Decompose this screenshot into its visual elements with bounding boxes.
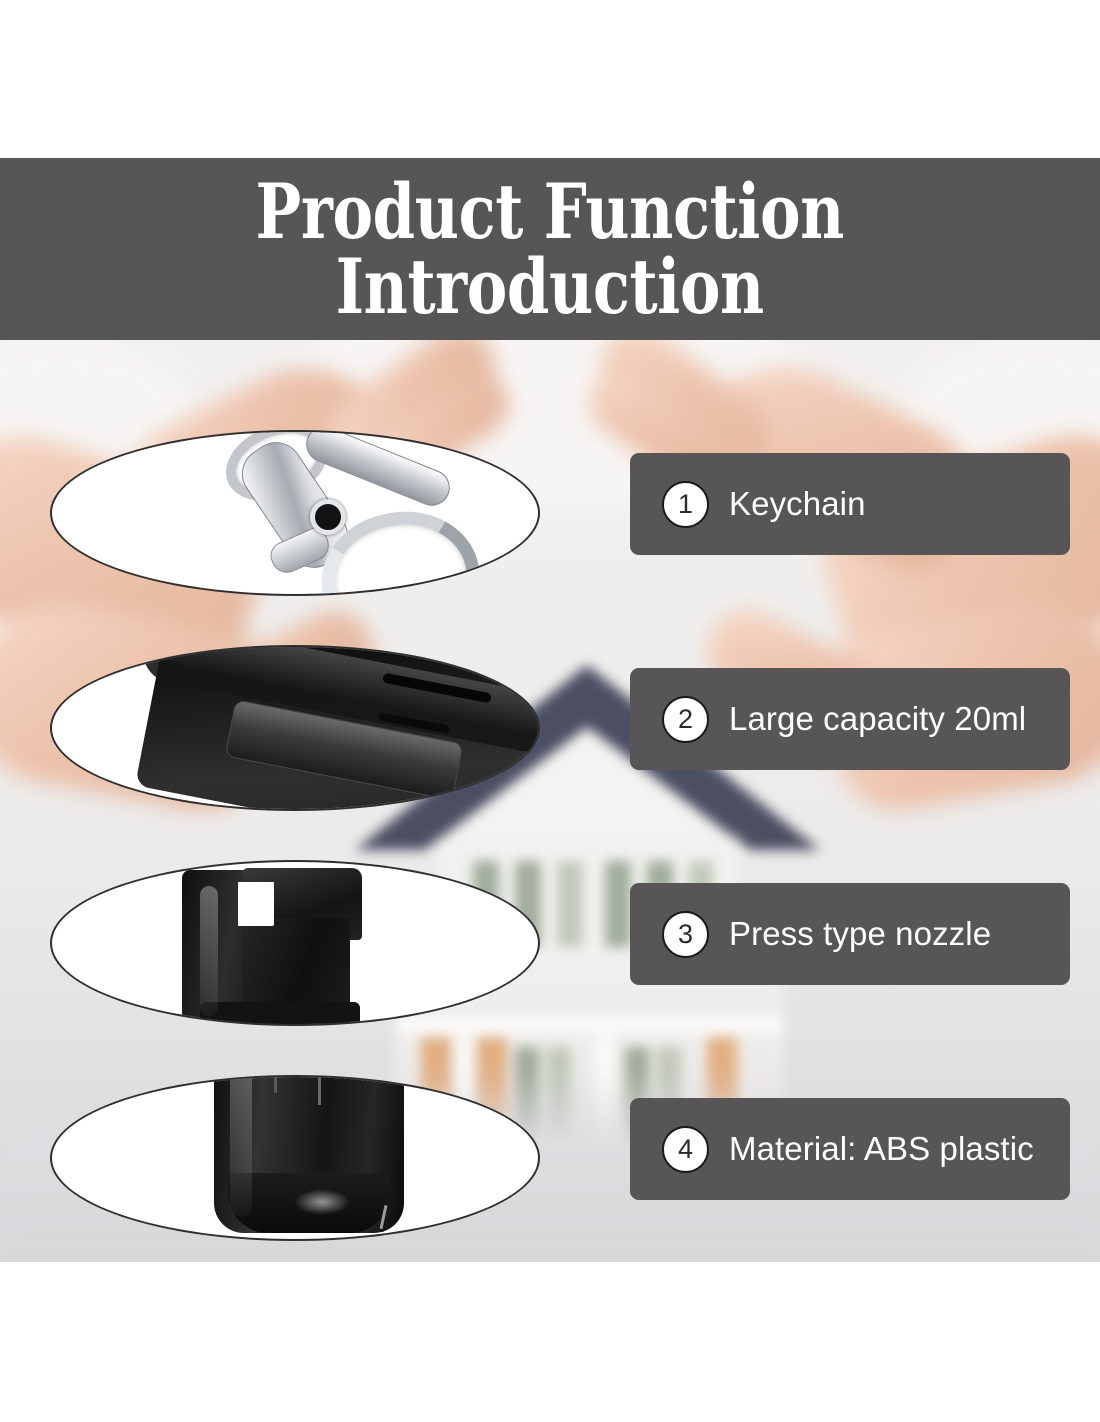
product-infographic-page: Product Function Introduction [0, 0, 1100, 1422]
callout-ellipse-nozzle [50, 860, 540, 1026]
feature-label-bar-1[interactable]: 1 Keychain [630, 453, 1070, 555]
cylinder-gloss [230, 1075, 252, 1217]
nozzle-gloss [200, 886, 218, 1016]
nozzle-base [200, 1002, 360, 1026]
feature-number-badge-1: 1 [662, 481, 709, 528]
callout-ellipse-material [50, 1075, 540, 1241]
feature-label-text-2: Large capacity 20ml [729, 700, 1026, 738]
callout-ellipse-capacity [50, 645, 540, 811]
product-photo-stage: 1 Keychain 2 Large capacity 20ml 3 Press… [0, 340, 1100, 1262]
feature-label-text-1: Keychain [729, 485, 866, 523]
header-banner: Product Function Introduction [0, 158, 1100, 340]
nozzle-notch [238, 882, 274, 926]
keychain-clasp-art [52, 432, 538, 594]
feature-number-badge-3: 3 [662, 911, 709, 958]
cylinder-highlight [294, 1189, 350, 1215]
feature-label-bar-4[interactable]: 4 Material: ABS plastic [630, 1098, 1070, 1200]
feature-number-badge-2: 2 [662, 696, 709, 743]
black-plastic-body-art [52, 647, 538, 809]
page-title-line-1: Product Function [256, 174, 844, 249]
feature-label-text-4: Material: ABS plastic [729, 1130, 1034, 1168]
callout-ellipse-keychain [50, 430, 540, 596]
press-nozzle-art [52, 862, 538, 1024]
page-title: Product Function Introduction [256, 174, 844, 324]
keychain-rivet [310, 499, 346, 535]
page-title-line-2: Introduction [256, 249, 844, 324]
feature-label-bar-2[interactable]: 2 Large capacity 20ml [630, 668, 1070, 770]
feature-number-badge-4: 4 [662, 1126, 709, 1173]
cylinder-seam [274, 1075, 277, 1093]
cylinder-bottom-art [52, 1077, 538, 1239]
feature-label-text-3: Press type nozzle [729, 915, 991, 953]
cylinder-seam [318, 1075, 321, 1105]
feature-label-bar-3[interactable]: 3 Press type nozzle [630, 883, 1070, 985]
